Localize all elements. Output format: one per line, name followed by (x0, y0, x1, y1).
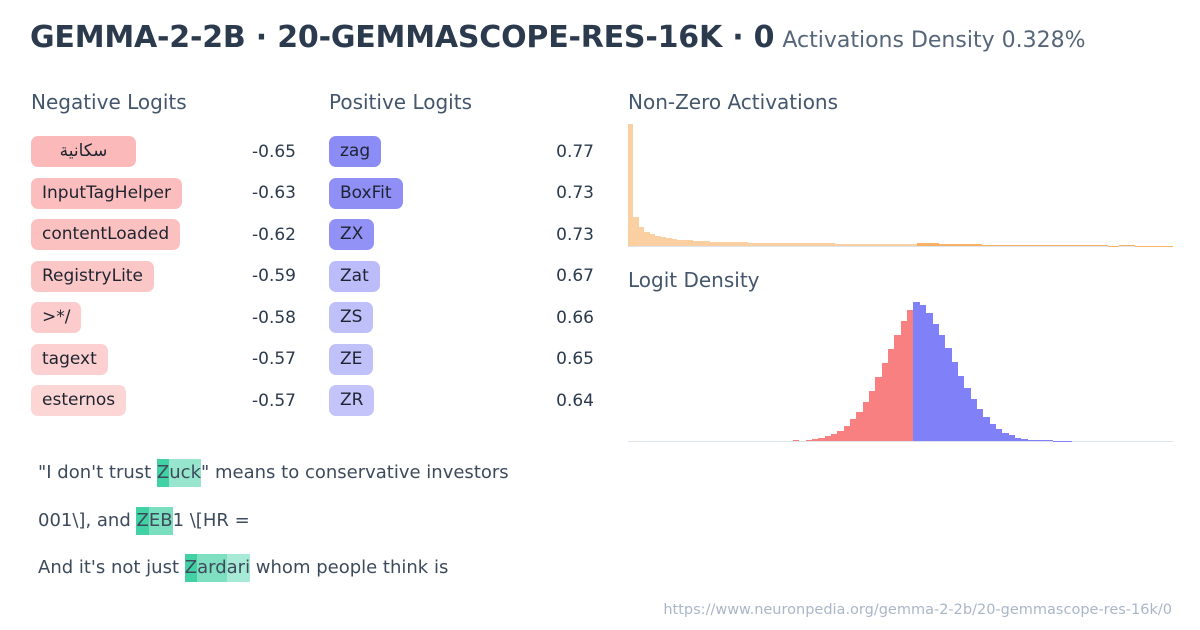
positive-logit-value: 0.64 (556, 391, 604, 411)
source-url[interactable]: https://www.neuronpedia.org/gemma-2-2b/2… (663, 602, 1172, 618)
feature-title: GEMMA-2-2B · 20-GEMMASCOPE-RES-16K · 0 (30, 20, 774, 55)
negative-logits-list: سكانية-0.65InputTagHelper-0.63contentLoa… (31, 131, 306, 422)
negative-logit-token[interactable]: contentLoaded (31, 219, 180, 250)
negative-logit-token[interactable]: esternos (31, 385, 126, 416)
negative-logit-value: -0.62 (252, 225, 306, 245)
positive-logit-value: 0.77 (556, 142, 604, 162)
highlighted-token: Z (185, 554, 197, 582)
logit-row: BoxFit0.73 (329, 173, 604, 215)
activation-examples: "I don't trust Zuck" means to conservati… (38, 462, 638, 605)
logit-density-bar (793, 440, 799, 441)
negative-logit-token[interactable]: RegistryLite (31, 261, 154, 292)
negative-logit-token[interactable]: tagext (31, 344, 108, 375)
highlighted-token: EB (149, 507, 173, 535)
highlighted-token: ard (197, 554, 227, 582)
negative-logits-heading: Negative Logits (31, 90, 306, 114)
page-title: GEMMA-2-2B · 20-GEMMASCOPE-RES-16K · 0Ac… (30, 20, 1180, 55)
highlighted-token: ari (227, 554, 250, 582)
highlighted-token: uck (169, 459, 201, 487)
positive-logit-value: 0.67 (556, 266, 604, 286)
positive-logits-panel: Positive Logits zag0.77 BoxFit0.73ZX0.73… (329, 90, 604, 422)
example-token: "I don't trust (38, 459, 157, 487)
example-token: 1 \[HR = (173, 507, 250, 535)
example-line[interactable]: "I don't trust Zuck" means to conservati… (38, 462, 638, 484)
highlighted-token: Z (136, 507, 148, 535)
negative-logit-value: -0.57 (252, 391, 306, 411)
example-line[interactable]: And it's not just Zardari whom people th… (38, 557, 638, 579)
logit-row: ZE0.65 (329, 339, 604, 381)
logit-row: zag0.77 (329, 131, 604, 173)
logit-row: esternos-0.57 (31, 380, 306, 422)
logit-row: tagext-0.57 (31, 339, 306, 381)
positive-logit-token[interactable]: ZR (329, 385, 374, 416)
example-token: 001\], and (38, 507, 136, 535)
negative-logit-value: -0.59 (252, 266, 306, 286)
logit-row: RegistryLite-0.59 (31, 256, 306, 298)
non-zero-activations-heading: Non-Zero Activations (628, 90, 1173, 114)
positive-logit-value: 0.65 (556, 349, 604, 369)
logit-row: >*/-0.58 (31, 297, 306, 339)
positive-logit-token[interactable]: ZX (329, 219, 374, 250)
neuronpedia-feature-card: GEMMA-2-2B · 20-GEMMASCOPE-RES-16K · 0Ac… (0, 0, 1200, 630)
example-line[interactable]: 001\], and ZEB1 \[HR = (38, 510, 638, 532)
logit-row: ZS0.66 (329, 297, 604, 339)
example-token: whom people think is (250, 554, 448, 582)
negative-logits-panel: Negative Logits سكانية-0.65InputTagHelpe… (31, 90, 306, 422)
example-token: And it's not just (38, 554, 185, 582)
logit-density-panel: Logit Density (628, 268, 1173, 442)
negative-logit-value: -0.63 (252, 183, 306, 203)
positive-logits-heading: Positive Logits (329, 90, 604, 114)
negative-logit-value: -0.65 (252, 142, 306, 162)
negative-logit-value: -0.58 (252, 308, 306, 328)
logit-row: Zat0.67 (329, 256, 604, 298)
highlighted-token: Z (157, 459, 169, 487)
logit-row: ZX0.73 (329, 214, 604, 256)
positive-logits-list: zag0.77 BoxFit0.73ZX0.73Zat0.67ZS0.66ZE0… (329, 131, 604, 422)
positive-logit-value: 0.66 (556, 308, 604, 328)
logit-row: ZR0.64 (329, 380, 604, 422)
non-zero-activations-chart (628, 124, 1173, 247)
positive-logit-token[interactable]: BoxFit (329, 178, 403, 209)
positive-logit-token[interactable]: ZS (329, 302, 373, 333)
logit-density-chart (628, 302, 1173, 442)
negative-logit-token[interactable]: سكانية (31, 136, 136, 167)
positive-logit-value: 0.73 (556, 183, 604, 203)
logit-row: سكانية-0.65 (31, 131, 306, 173)
positive-logit-token[interactable]: zag (329, 136, 381, 167)
activation-bar (912, 244, 917, 246)
negative-logit-token[interactable]: >*/ (31, 302, 81, 333)
logit-density-heading: Logit Density (628, 268, 1173, 292)
positive-logit-value: 0.73 (556, 225, 604, 245)
logit-row: InputTagHelper-0.63 (31, 173, 306, 215)
non-zero-activations-panel: Non-Zero Activations (628, 90, 1173, 247)
logit-density-bars (628, 302, 1173, 441)
positive-logit-token[interactable]: Zat (329, 261, 380, 292)
activations-density-label: Activations Density 0.328% (782, 28, 1085, 53)
positive-logit-token[interactable]: ZE (329, 344, 373, 375)
activations-bars (628, 124, 1173, 246)
negative-logit-token[interactable]: InputTagHelper (31, 178, 182, 209)
negative-logit-value: -0.57 (252, 349, 306, 369)
example-token: " means to conservative investors (201, 459, 509, 487)
logit-row: contentLoaded-0.62 (31, 214, 306, 256)
